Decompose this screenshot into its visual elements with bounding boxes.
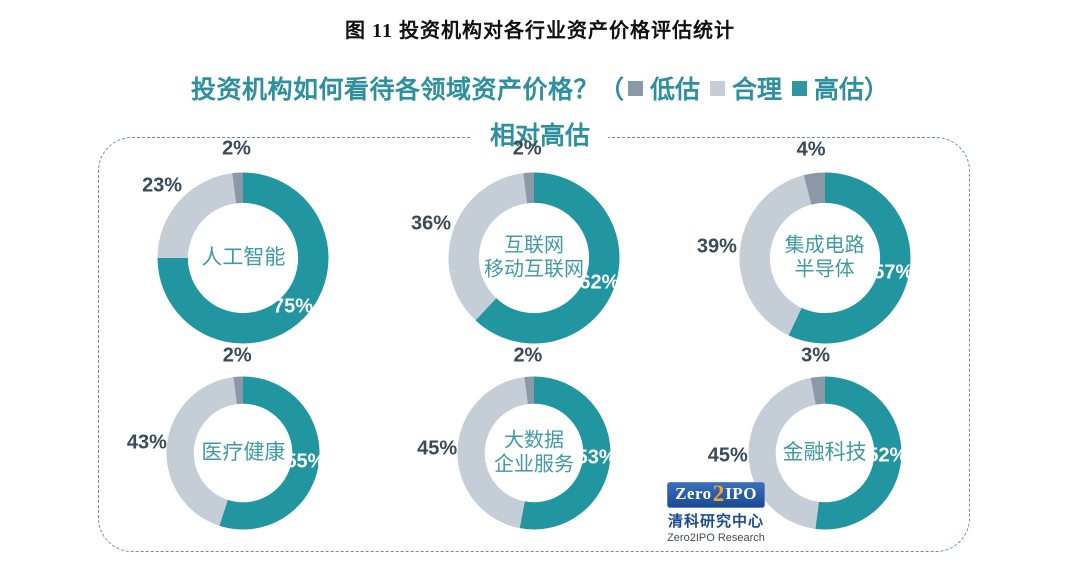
legend-item-reasonable: 合理 — [710, 70, 782, 106]
legend: 低估 合理 高估 — [624, 70, 864, 106]
donut-chart: 集成电路半导体57%39%4% — [730, 163, 920, 353]
legend-item-overvalued: 高估 — [792, 70, 864, 106]
donut-chart: 医疗健康55%43%2% — [158, 368, 328, 538]
donut-ring — [439, 163, 629, 353]
donut-slice-reasonable — [167, 377, 237, 526]
donut-ring — [148, 163, 338, 353]
donut-chart-cell: 互联网移动互联网62%36%2% — [389, 160, 680, 355]
paren-open: （ — [599, 70, 624, 106]
donut-chart: 大数据企业服务53%45%2% — [449, 368, 619, 538]
subtitle-legend-row: 投资机构如何看待各领域资产价格？ （ 低估 合理 高估 ） — [0, 70, 1080, 106]
logo-text-two: 2 — [713, 484, 725, 505]
page-title: 图 11 投资机构对各行业资产价格评估统计 — [0, 14, 1080, 43]
legend-label-undervalued: 低估 — [650, 70, 700, 106]
donut-chart-grid: 人工智能75%23%2%互联网移动互联网62%36%2%集成电路半导体57%39… — [98, 160, 970, 550]
logo-label-cn: 清科研究中心 — [636, 510, 796, 531]
legend-swatch-reasonable — [710, 81, 725, 96]
donut-slice-overvalued — [815, 376, 901, 529]
panel-tag-relatively-overvalued: 相对高估 — [472, 118, 608, 154]
logo-label-en: Zero2IPO Research — [636, 532, 796, 544]
donut-chart: 人工智能75%23%2% — [148, 163, 338, 353]
donut-slice-reasonable — [448, 173, 527, 320]
donut-ring — [730, 163, 920, 353]
logo-mark: Zero 2 IPO — [667, 482, 765, 508]
donut-chart: 互联网移动互联网62%36%2% — [439, 163, 629, 353]
logo-text-ipo: IPO — [725, 484, 757, 504]
subtitle-text: 投资机构如何看待各领域资产价格？ — [191, 70, 599, 106]
zero2ipo-logo: Zero 2 IPO 清科研究中心 Zero2IPO Research — [636, 482, 796, 544]
donut-slice-reasonable — [457, 377, 527, 528]
legend-label-reasonable: 合理 — [732, 70, 782, 106]
donut-slice-reasonable — [158, 173, 237, 258]
donut-ring — [158, 368, 328, 538]
paren-close: ） — [864, 70, 889, 106]
logo-text-zero: Zero — [675, 484, 712, 504]
legend-swatch-undervalued — [628, 81, 643, 96]
legend-item-undervalued: 低估 — [628, 70, 700, 106]
donut-chart-cell: 医疗健康55%43%2% — [98, 355, 389, 550]
donut-ring — [449, 368, 619, 538]
donut-chart-cell: 集成电路半导体57%39%4% — [679, 160, 970, 355]
legend-label-overvalued: 高估 — [814, 70, 864, 106]
donut-chart-cell: 人工智能75%23%2% — [98, 160, 389, 355]
legend-swatch-overvalued — [792, 81, 807, 96]
